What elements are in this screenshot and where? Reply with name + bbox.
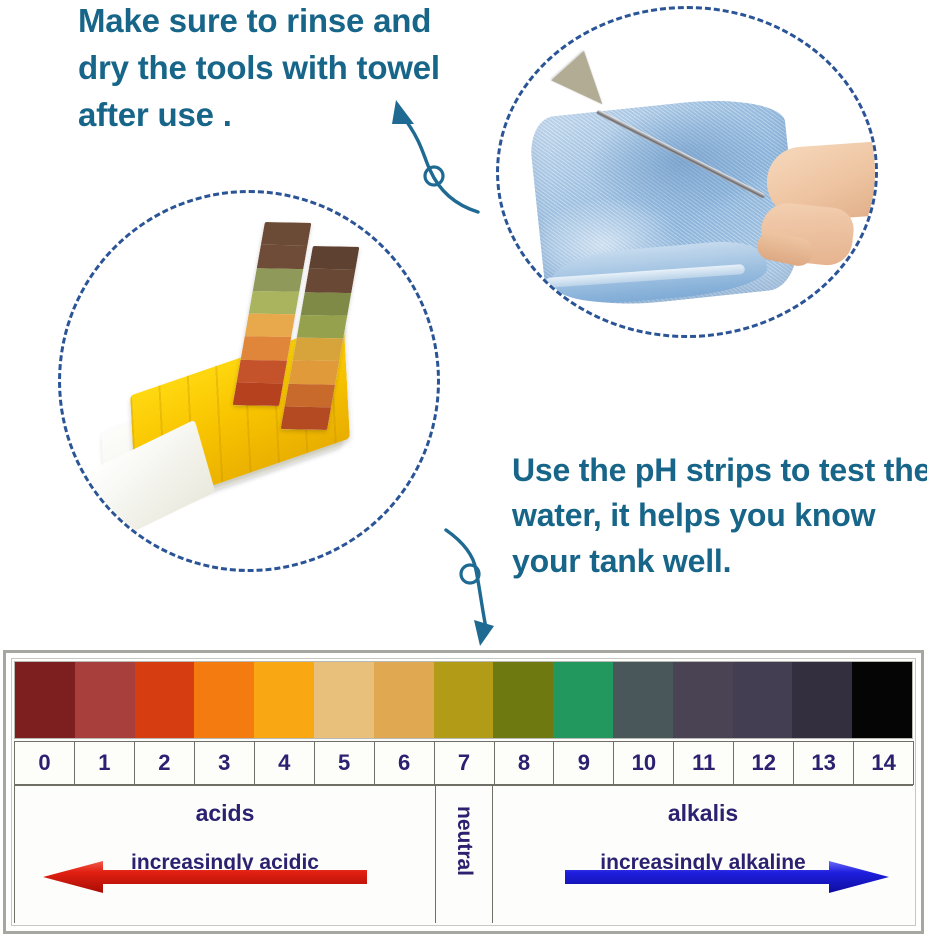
callout-text-use-ph-strips: Use the pH strips to test the water, it … (512, 448, 927, 584)
strip-chart-swatch (281, 406, 332, 430)
ph-number-cell-7: 7 (434, 741, 495, 785)
strip-chart-swatch (257, 245, 308, 269)
ph-color-swatch-1 (75, 662, 135, 738)
ph-legend-acids-pane: acids increasingly acidic (14, 786, 436, 923)
ph-number-cell-13: 13 (793, 741, 854, 785)
alkali-direction-arrow-icon (565, 859, 895, 895)
strip-chart-swatch (297, 315, 348, 339)
strip-chart-swatch (237, 359, 288, 383)
curved-arrow-down-icon (412, 508, 544, 650)
strip-chart-swatch (293, 338, 344, 362)
acid-direction-arrow-icon (37, 859, 367, 895)
ph-color-swatch-7 (434, 662, 494, 738)
ph-legend-neutral-pane: neutral (436, 786, 493, 923)
ph-color-swatch-8 (493, 662, 553, 738)
ph-color-swatch-11 (673, 662, 733, 738)
ph-color-swatch-6 (374, 662, 434, 738)
strip-chart-swatch (241, 336, 292, 360)
strip-chart-swatch (233, 382, 284, 406)
photo-towel-scene (499, 9, 875, 335)
strip-chart-swatch (285, 383, 336, 407)
ph-color-swatch-5 (314, 662, 374, 738)
ph-color-swatch-10 (613, 662, 673, 738)
alkalis-label: alkalis (668, 800, 738, 827)
ph-number-cell-1: 1 (74, 741, 135, 785)
ph-number-row: 01234567891011121314 (14, 741, 913, 785)
ph-number-cell-0: 0 (14, 741, 75, 785)
strip-chart-swatch (245, 314, 296, 338)
ph-color-swatch-9 (553, 662, 613, 738)
strip-chart-swatch (309, 246, 360, 270)
strip-chart-swatch (261, 222, 312, 246)
ph-scale-chart: 01234567891011121314 acids increasingly … (3, 650, 924, 934)
ph-legend-alkalis-pane: alkalis increasingly alkaline (493, 786, 913, 923)
ph-chart-inner-frame: 01234567891011121314 acids increasingly … (11, 658, 916, 926)
ph-legend-row: acids increasingly acidic neutral (14, 785, 913, 923)
ph-color-swatch-row (14, 661, 913, 739)
ph-color-swatch-0 (15, 662, 75, 738)
ph-number-cell-14: 14 (853, 741, 914, 785)
curved-arrow-up-icon (382, 84, 514, 266)
ph-number-cell-11: 11 (673, 741, 734, 785)
ph-color-swatch-4 (254, 662, 314, 738)
strip-chart-swatch (249, 291, 300, 315)
ph-number-cell-5: 5 (314, 741, 375, 785)
strip-chart-swatch (289, 360, 340, 384)
ph-number-cell-6: 6 (374, 741, 435, 785)
scraper-blade-icon (551, 51, 618, 119)
strip-chart-swatch (305, 269, 356, 293)
ph-color-swatch-2 (135, 662, 195, 738)
ph-color-swatch-14 (852, 662, 912, 738)
acids-label: acids (196, 800, 255, 827)
ph-number-cell-8: 8 (494, 741, 555, 785)
ph-number-cell-3: 3 (194, 741, 255, 785)
ph-number-cell-4: 4 (254, 741, 315, 785)
ph-number-cell-2: 2 (134, 741, 195, 785)
ph-number-cell-9: 9 (553, 741, 614, 785)
ph-color-swatch-3 (194, 662, 254, 738)
ph-color-swatch-13 (792, 662, 852, 738)
photo-strips-scene (61, 193, 437, 569)
ph-color-swatch-12 (733, 662, 793, 738)
strip-chart-swatch (253, 268, 304, 292)
photo-hand-holding-towel (496, 6, 878, 338)
neutral-label: neutral (452, 806, 476, 876)
ph-number-cell-12: 12 (733, 741, 794, 785)
strip-chart-swatch (301, 292, 352, 316)
ph-number-cell-10: 10 (613, 741, 674, 785)
